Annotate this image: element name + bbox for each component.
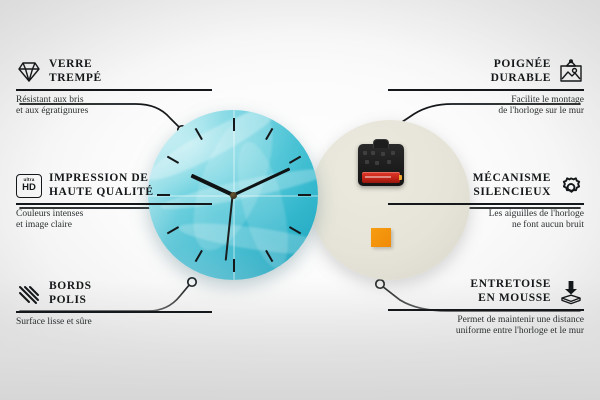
clock-tick [233, 118, 235, 131]
feature-desc-line1: Permet de maintenir une distance [388, 315, 584, 327]
clock-center-hub [230, 192, 237, 199]
feature-title-line2: HAUTE QUALITÉ [49, 186, 154, 200]
feature-title-line1: IMPRESSION DE [49, 172, 154, 186]
feature-desc-line1: Surface lisse et sûre [16, 317, 212, 329]
mechanism-hanger-tab [373, 139, 389, 148]
ultra-hd-icon-bottom: HD [22, 183, 36, 193]
feature-bords-polis: BORDS POLIS Surface lisse et sûre [16, 280, 212, 328]
diamond-icon [16, 59, 42, 85]
feature-verre-trempe: VERRE TREMPÉ Résistant aux bris et aux é… [16, 58, 212, 118]
feature-title-line1: VERRE [49, 58, 102, 72]
feature-desc-line2: et aux égratignures [16, 106, 212, 118]
feature-divider [16, 89, 212, 91]
feature-divider [16, 311, 212, 313]
feature-poignee-durable: POIGNÉE DURABLE Facilite le montage de l… [388, 58, 584, 118]
arrow-press-foam-icon [558, 279, 584, 305]
feature-title-line2: DURABLE [491, 72, 551, 86]
connector-dot-entretoise [376, 280, 384, 288]
feature-title-line2: EN MOUSSE [470, 292, 551, 306]
feature-desc-line1: Les aiguilles de l'horloge [388, 209, 584, 221]
ultra-hd-icon: ultra HD [16, 174, 42, 198]
feature-title-line1: BORDS [49, 280, 92, 294]
feature-desc-line1: Couleurs intenses [16, 209, 212, 221]
feature-desc-line2: et image claire [16, 220, 212, 232]
feature-desc-line2: ne font aucun bruit [388, 220, 584, 232]
feature-title-line2: SILENCIEUX [473, 186, 551, 200]
infographic-canvas: VERRE TREMPÉ Résistant aux bris et aux é… [0, 0, 600, 400]
feature-desc-line1: Résistant aux bris [16, 95, 212, 107]
picture-hanger-icon [558, 59, 584, 85]
feature-divider [16, 203, 212, 205]
feature-entretoise-en-mousse: ENTRETOISE EN MOUSSE Permet de maintenir… [388, 278, 584, 338]
feature-title-line1: MÉCANISME [473, 172, 551, 186]
feature-desc-line2: uniforme entre l'horloge et le mur [388, 326, 584, 338]
feature-title-line2: TREMPÉ [49, 72, 102, 86]
clock-tick [298, 194, 311, 196]
feature-divider [388, 89, 584, 91]
feature-desc-line2: de l'horloge sur le mur [388, 106, 584, 118]
mechanism-detail [363, 151, 399, 167]
feature-desc-line1: Facilite le montage [388, 95, 584, 107]
feature-title-line2: POLIS [49, 294, 92, 308]
feature-divider [388, 203, 584, 205]
diagonal-stripes-icon [16, 281, 42, 307]
feature-impression-haute-qualite: ultra HD IMPRESSION DE HAUTE QUALITÉ Cou… [16, 172, 212, 232]
feature-mecanisme-silencieux: MÉCANISME SILENCIEUX Les aiguilles de l'… [388, 172, 584, 232]
gear-icon [558, 173, 584, 199]
feature-title-line1: ENTRETOISE [470, 278, 551, 292]
clock-tick [233, 259, 235, 272]
feature-title-line1: POIGNÉE [491, 58, 551, 72]
feature-divider [388, 309, 584, 311]
